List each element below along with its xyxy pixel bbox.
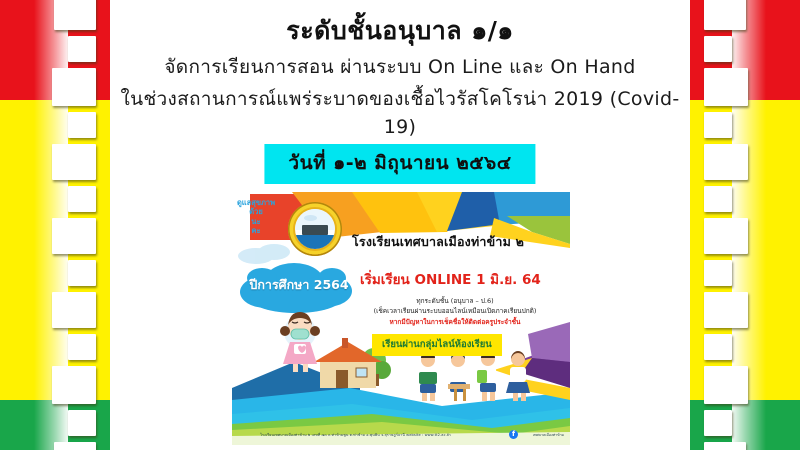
border-brick [68,260,96,286]
detail-line-3: หากมีปัญหาในการเช็คชื่อให้ติดต่อครูประจำ… [342,317,568,329]
school-name: โรงเรียนเทศบาลเมืองท่าข้าม ๒ [352,232,567,252]
poster-image: โรงเรียนเทศบาลเมืองท่าข้าม ๒ ปีการศึกษา … [232,192,570,445]
border-brick [68,186,96,212]
subtitle-line-1: จัดการเรียนการสอน ผ่านระบบ On Line และ O… [164,56,635,78]
detail-text-block: ทุกระดับชั้น (อนุบาล – ป.6) (เช็คเวลาเรี… [342,296,568,328]
border-brick [704,112,732,138]
border-brick [52,68,96,106]
border-brick [704,260,732,286]
border-brick [704,410,732,436]
academic-year-label: ปีการศึกษา 2564 [240,260,358,310]
border-brick [704,334,732,360]
border-brick [68,36,96,62]
border-brick [704,218,748,254]
speech-bubble-text: ดูแลสุขภาพ ด้วย นะ คะ [234,198,278,236]
bubble-line-4: คะ [251,226,260,235]
border-brick [704,68,748,106]
start-online-label: เริ่มเรียน ONLINE 1 มิ.ย. 64 [360,268,570,290]
border-brick [704,0,746,30]
facebook-icon: f [509,430,518,439]
detail-line-2: (เช็คเวลาเรียนผ่านระบบออนไลน์เหมือนเปิดภ… [342,306,568,316]
border-brick [68,410,96,436]
page-title: ระดับชั้นอนุบาล ๑/๑ [110,16,690,46]
border-brick [68,112,96,138]
border-brick [704,36,732,62]
border-brick [52,292,96,328]
poster-footer-text: โรงเรียนเทศบาลเมืองท่าข้าม ๒ เลขที่ ๗๓ ถ… [260,432,510,438]
bubble-line-3: นะ [251,217,260,226]
border-brick-pattern [48,0,110,450]
line-group-chip: เรียนผ่านกลุ่มไลน์ห้องเรียน [372,334,502,356]
border-brick [52,144,96,180]
emblem-inner-ring [295,209,335,249]
border-brick [704,292,748,328]
border-brick [52,366,96,404]
bubble-line-2: ด้วย [249,207,262,216]
school-emblem [288,202,342,256]
border-brick [704,144,748,180]
facebook-page-label: เทศบาลเมืองท่าข้าม [533,432,564,438]
border-brick [704,186,732,212]
border-brick [68,334,96,360]
border-brick [704,442,746,450]
bubble-line-1: ดูแลสุขภาพ [237,198,275,207]
emblem-cloud [304,215,318,221]
subtitle-line-2: ในช่วงสถานการณ์แพร่ระบาดของเชื้อไวรัสโคโ… [110,85,690,142]
detail-line-1: ทุกระดับชั้น (อนุบาล – ป.6) [342,296,568,306]
border-brick [704,366,748,404]
border-brick [54,442,96,450]
border-brick-pattern [690,0,752,450]
border-brick [54,0,96,30]
right-decorative-border [690,0,800,450]
date-banner: วันที่ ๑-๒ มิถุนายน ๒๕๖๔ [264,144,535,184]
emblem-bridge [302,225,328,235]
headline-block: ระดับชั้นอนุบาล ๑/๑ จัดการเรียนการสอน ผ่… [110,16,690,142]
left-decorative-border [0,0,110,450]
emblem-water [295,235,335,249]
border-brick [52,218,96,254]
subtitle-block: จัดการเรียนการสอน ผ่านระบบ On Line และ O… [110,53,690,142]
slide-canvas: ระดับชั้นอนุบาล ๑/๑ จัดการเรียนการสอน ผ่… [0,0,800,450]
